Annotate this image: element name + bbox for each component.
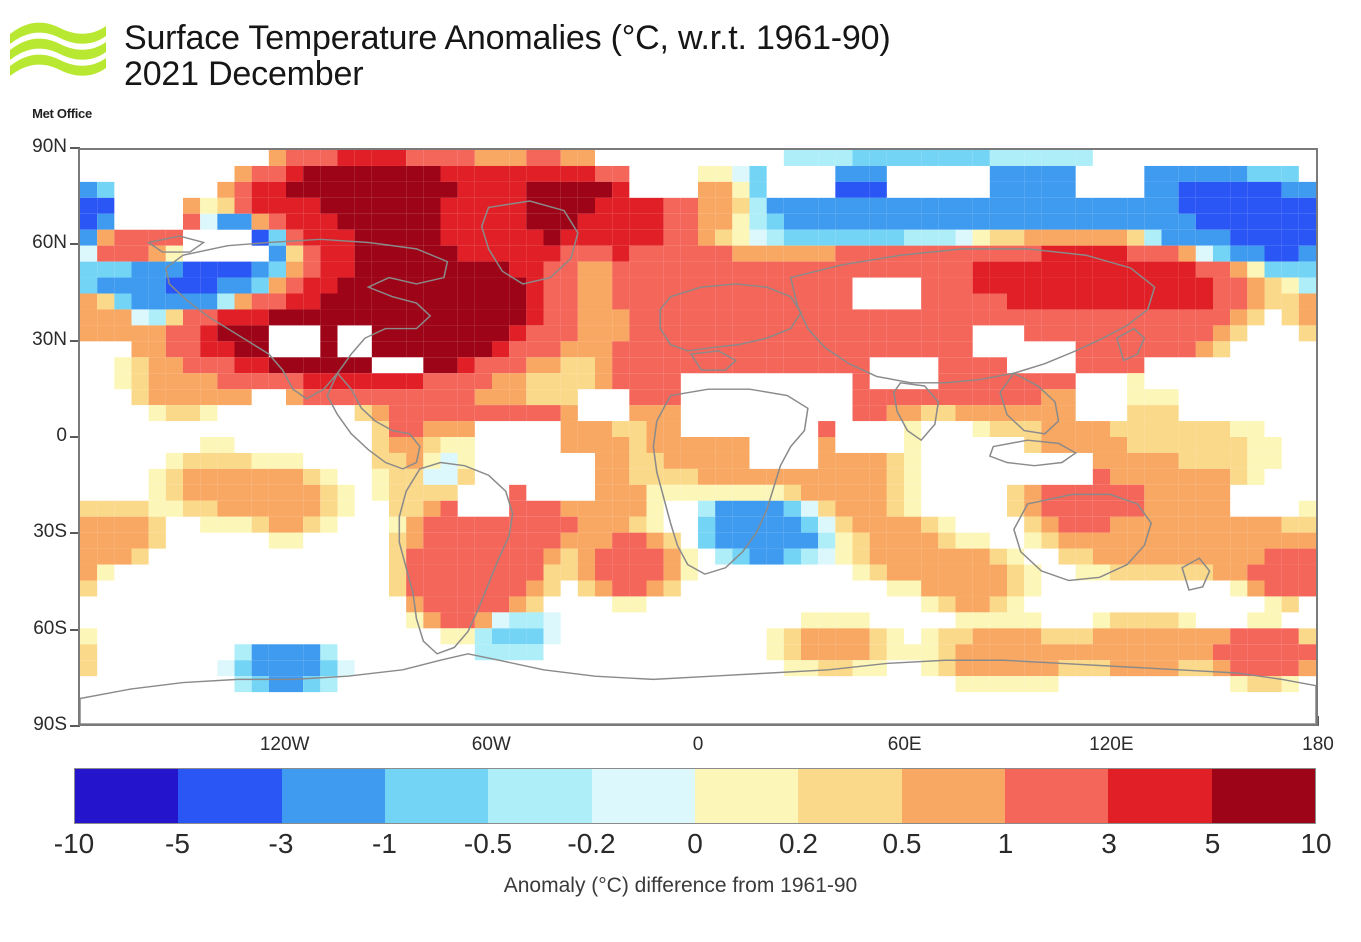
anomaly-cell (681, 262, 698, 278)
anomaly-cell (664, 262, 681, 278)
anomaly-cell (1162, 660, 1179, 676)
anomaly-cell (303, 182, 320, 198)
anomaly-cell (1007, 644, 1024, 660)
anomaly-cell (217, 501, 234, 517)
anomaly-cell (681, 469, 698, 485)
anomaly-cell (801, 278, 818, 294)
anomaly-cell (973, 294, 990, 310)
anomaly-cell (801, 309, 818, 325)
anomaly-cell (1041, 644, 1058, 660)
anomaly-cell (132, 357, 149, 373)
anomaly-cell (1213, 230, 1230, 246)
anomaly-cell (853, 182, 870, 198)
colorbar-tick: -3 (221, 828, 341, 860)
anomaly-cell (921, 549, 938, 565)
anomaly-cell (183, 469, 200, 485)
anomaly-cell (217, 341, 234, 357)
anomaly-cell (818, 628, 835, 644)
anomaly-cell (578, 246, 595, 262)
anomaly-cell (647, 230, 664, 246)
anomaly-cell (1007, 405, 1024, 421)
anomaly-cell (372, 485, 389, 501)
anomaly-cell (80, 660, 97, 676)
anomaly-cell (149, 533, 166, 549)
anomaly-cell (1247, 660, 1264, 676)
anomaly-cell (629, 389, 646, 405)
anomaly-cell (1041, 309, 1058, 325)
colorbar-band (695, 769, 798, 823)
anomaly-cell (1196, 309, 1213, 325)
anomaly-cell (750, 309, 767, 325)
anomaly-cell (750, 246, 767, 262)
anomaly-cell (1213, 421, 1230, 437)
anomaly-cell (458, 357, 475, 373)
anomaly-cell (715, 341, 732, 357)
anomaly-cell (1282, 262, 1299, 278)
anomaly-cell (612, 501, 629, 517)
anomaly-cell (149, 501, 166, 517)
anomaly-cell (166, 389, 183, 405)
anomaly-cell (252, 214, 269, 230)
anomaly-cell (338, 309, 355, 325)
anomaly-cell (1179, 533, 1196, 549)
anomaly-cell (904, 469, 921, 485)
anomaly-cell (750, 214, 767, 230)
anomaly-cell (578, 278, 595, 294)
anomaly-cell (990, 421, 1007, 437)
anomaly-cell (269, 660, 286, 676)
anomaly-cell (406, 612, 423, 628)
anomaly-cell (492, 373, 509, 389)
anomaly-cell (956, 612, 973, 628)
anomaly-cell (492, 150, 509, 166)
anomaly-cell (1247, 246, 1264, 262)
anomaly-cell (320, 325, 337, 341)
anomaly-cell (1024, 485, 1041, 501)
anomaly-cell (801, 294, 818, 310)
anomaly-cell (149, 278, 166, 294)
anomaly-cell (1247, 533, 1264, 549)
anomaly-cell (715, 262, 732, 278)
anomaly-cell (1110, 278, 1127, 294)
anomaly-cell (441, 549, 458, 565)
anomaly-cell (1110, 549, 1127, 565)
colorbar-band (488, 769, 591, 823)
anomaly-cell (458, 612, 475, 628)
anomaly-cell (698, 214, 715, 230)
anomaly-cell (1230, 182, 1247, 198)
anomaly-cell (200, 325, 217, 341)
anomaly-cell (784, 644, 801, 660)
anomaly-cell (1093, 517, 1110, 533)
anomaly-cell (818, 230, 835, 246)
anomaly-cell (595, 325, 612, 341)
anomaly-cell (423, 373, 440, 389)
anomaly-cell (818, 278, 835, 294)
anomaly-cell (629, 341, 646, 357)
anomaly-cell (647, 294, 664, 310)
anomaly-cell (1265, 230, 1282, 246)
anomaly-cell (870, 214, 887, 230)
anomaly-cell (458, 230, 475, 246)
anomaly-cell (664, 278, 681, 294)
anomaly-cell (526, 533, 543, 549)
anomaly-cell (1247, 628, 1264, 644)
anomaly-cell (475, 628, 492, 644)
anomaly-cell (303, 246, 320, 262)
anomaly-cell (1299, 501, 1316, 517)
anomaly-cell (1076, 628, 1093, 644)
anomaly-cell (441, 182, 458, 198)
anomaly-cell (458, 581, 475, 597)
anomaly-cell (320, 278, 337, 294)
anomaly-cell (269, 469, 286, 485)
anomaly-cell (938, 357, 955, 373)
anomaly-cell (1247, 469, 1264, 485)
anomaly-cell (338, 660, 355, 676)
anomaly-cell (784, 660, 801, 676)
anomaly-cell (784, 246, 801, 262)
anomaly-cell (492, 357, 509, 373)
anomaly-cell (578, 214, 595, 230)
anomaly-cell (1299, 517, 1316, 533)
anomaly-cell (1076, 437, 1093, 453)
anomaly-cell (1127, 373, 1144, 389)
anomaly-cell (715, 549, 732, 565)
anomaly-cell (149, 309, 166, 325)
anomaly-cell (1196, 198, 1213, 214)
anomaly-cell (132, 246, 149, 262)
anomaly-cell (921, 325, 938, 341)
anomaly-cell (1093, 437, 1110, 453)
anomaly-cell (853, 262, 870, 278)
anomaly-cell (441, 373, 458, 389)
anomaly-cell (1196, 230, 1213, 246)
anomaly-cell (1299, 309, 1316, 325)
anomaly-cell (1093, 660, 1110, 676)
anomaly-cell (647, 309, 664, 325)
anomaly-cell (441, 214, 458, 230)
anomaly-cell (715, 501, 732, 517)
anomaly-cell (1213, 166, 1230, 182)
anomaly-cell (441, 150, 458, 166)
anomaly-cell (578, 581, 595, 597)
anomaly-cell (441, 501, 458, 517)
anomaly-cell (1024, 437, 1041, 453)
anomaly-cell (973, 214, 990, 230)
anomaly-cell (492, 581, 509, 597)
anomaly-cell (629, 581, 646, 597)
anomaly-cell (320, 166, 337, 182)
anomaly-cell (1247, 437, 1264, 453)
anomaly-cell (853, 341, 870, 357)
anomaly-cell (1059, 389, 1076, 405)
anomaly-cell (1041, 166, 1058, 182)
anomaly-cell (526, 182, 543, 198)
anomaly-cell (1162, 262, 1179, 278)
anomaly-cell (526, 517, 543, 533)
anomaly-cell (715, 214, 732, 230)
anomaly-cell (1265, 644, 1282, 660)
anomaly-cell (423, 421, 440, 437)
anomaly-cell (835, 182, 852, 198)
anomaly-cell (1282, 565, 1299, 581)
anomaly-cell (1076, 198, 1093, 214)
anomaly-cell (767, 628, 784, 644)
anomaly-cell (990, 644, 1007, 660)
anomaly-cell (320, 501, 337, 517)
anomaly-cell (269, 182, 286, 198)
anomaly-cell (578, 182, 595, 198)
anomaly-cell (423, 405, 440, 421)
anomaly-cell (904, 262, 921, 278)
anomaly-cell (1024, 581, 1041, 597)
anomaly-cell (750, 549, 767, 565)
anomaly-cell (97, 246, 114, 262)
anomaly-cell (904, 549, 921, 565)
anomaly-cell (235, 389, 252, 405)
anomaly-cell (1162, 517, 1179, 533)
anomaly-cell (750, 262, 767, 278)
anomaly-cell (904, 198, 921, 214)
anomaly-cell (183, 309, 200, 325)
anomaly-cell (217, 214, 234, 230)
anomaly-cell (1196, 644, 1213, 660)
anomaly-cell (492, 294, 509, 310)
anomaly-cell (149, 341, 166, 357)
anomaly-cell (338, 246, 355, 262)
anomaly-cell (835, 341, 852, 357)
anomaly-cell (252, 309, 269, 325)
anomaly-cell (647, 565, 664, 581)
anomaly-cell (1127, 485, 1144, 501)
anomaly-cell (217, 469, 234, 485)
anomaly-cell (114, 549, 131, 565)
anomaly-cell (544, 166, 561, 182)
anomaly-cell (1247, 421, 1264, 437)
anomaly-cell (1127, 517, 1144, 533)
anomaly-cell (303, 262, 320, 278)
anomaly-cell (389, 581, 406, 597)
anomaly-cell (1230, 166, 1247, 182)
anomaly-cell (1282, 278, 1299, 294)
anomaly-cell (372, 166, 389, 182)
anomaly-cell (372, 309, 389, 325)
map-plot-area (78, 148, 1318, 726)
anomaly-cell (801, 246, 818, 262)
anomaly-cell (629, 517, 646, 533)
anomaly-cell (1007, 214, 1024, 230)
anomaly-cell (870, 230, 887, 246)
anomaly-cell (355, 182, 372, 198)
anomaly-cell (1179, 262, 1196, 278)
anomaly-cell (612, 246, 629, 262)
anomaly-cell (200, 214, 217, 230)
anomaly-cell (1007, 389, 1024, 405)
anomaly-cell (578, 309, 595, 325)
anomaly-cell (1162, 644, 1179, 660)
anomaly-cell (973, 533, 990, 549)
anomaly-cell (956, 278, 973, 294)
anomaly-cell (595, 565, 612, 581)
anomaly-cell (389, 389, 406, 405)
anomaly-cell (1299, 549, 1316, 565)
anomaly-cell (853, 214, 870, 230)
anomaly-cell (1196, 421, 1213, 437)
anomaly-cell (406, 262, 423, 278)
anomaly-cell (647, 246, 664, 262)
anomaly-cell (956, 405, 973, 421)
anomaly-cell (578, 373, 595, 389)
anomaly-cell (629, 565, 646, 581)
anomaly-cell (853, 405, 870, 421)
anomaly-cell (475, 373, 492, 389)
anomaly-cell (664, 214, 681, 230)
anomaly-cell (904, 501, 921, 517)
anomaly-cell (1110, 628, 1127, 644)
anomaly-cell (1179, 294, 1196, 310)
anomaly-cell (956, 581, 973, 597)
anomaly-cell (595, 421, 612, 437)
anomaly-cell (217, 373, 234, 389)
anomaly-cell (835, 309, 852, 325)
anomaly-cell (664, 565, 681, 581)
anomaly-cell (715, 294, 732, 310)
anomaly-cell (1162, 453, 1179, 469)
anomaly-cell (509, 628, 526, 644)
anomaly-cell (526, 325, 543, 341)
anomaly-cell (492, 596, 509, 612)
anomaly-cell (853, 485, 870, 501)
anomaly-cell (647, 581, 664, 597)
anomaly-cell (1162, 214, 1179, 230)
anomaly-cell (303, 373, 320, 389)
anomaly-cell (904, 437, 921, 453)
anomaly-cell (904, 453, 921, 469)
anomaly-cell (1230, 421, 1247, 437)
anomaly-cell (1024, 421, 1041, 437)
anomaly-cell (1230, 533, 1247, 549)
anomaly-cell (938, 644, 955, 660)
anomaly-cell (647, 517, 664, 533)
anomaly-cell (1059, 373, 1076, 389)
anomaly-cell (938, 294, 955, 310)
anomaly-cell (1093, 469, 1110, 485)
anomaly-cell (1144, 612, 1161, 628)
anomaly-cell (97, 309, 114, 325)
anomaly-cell (1041, 517, 1058, 533)
anomaly-cell (1196, 453, 1213, 469)
anomaly-cell (338, 214, 355, 230)
anomaly-cell (1144, 405, 1161, 421)
anomaly-cell (1230, 453, 1247, 469)
anomaly-cell (647, 501, 664, 517)
anomaly-cell (1110, 230, 1127, 246)
anomaly-cell (217, 262, 234, 278)
anomaly-cell (544, 517, 561, 533)
anomaly-cell (1041, 230, 1058, 246)
anomaly-cell (1179, 214, 1196, 230)
anomaly-cell (887, 325, 904, 341)
anomaly-cell (1144, 182, 1161, 198)
anomaly-cell (1024, 612, 1041, 628)
anomaly-cell (114, 357, 131, 373)
anomaly-cell (475, 612, 492, 628)
anomaly-cell (801, 262, 818, 278)
anomaly-cell (647, 198, 664, 214)
anomaly-cell (561, 437, 578, 453)
anomaly-cell (973, 612, 990, 628)
anomaly-cell (114, 294, 131, 310)
anomaly-cell (1059, 485, 1076, 501)
anomaly-cell (286, 389, 303, 405)
anomaly-cell (492, 166, 509, 182)
anomaly-cell (835, 230, 852, 246)
anomaly-cell (990, 357, 1007, 373)
anomaly-cell (750, 341, 767, 357)
anomaly-cell (149, 517, 166, 533)
anomaly-cell (338, 485, 355, 501)
anomaly-cell (561, 389, 578, 405)
anomaly-cell (1179, 644, 1196, 660)
anomaly-cell (1282, 517, 1299, 533)
anomaly-cell (217, 453, 234, 469)
anomaly-cell (441, 294, 458, 310)
anomaly-cell (818, 246, 835, 262)
anomaly-cell (1162, 437, 1179, 453)
anomaly-cell (492, 278, 509, 294)
anomaly-cell (132, 501, 149, 517)
anomaly-cell (441, 565, 458, 581)
anomaly-cell (1093, 421, 1110, 437)
anomaly-cell (1144, 517, 1161, 533)
anomaly-cell (406, 230, 423, 246)
anomaly-cell (1247, 214, 1264, 230)
anomaly-cell (475, 262, 492, 278)
anomaly-cell (1213, 453, 1230, 469)
anomaly-cell (80, 533, 97, 549)
anomaly-cell (544, 565, 561, 581)
anomaly-cell (80, 230, 97, 246)
anomaly-cell (1196, 660, 1213, 676)
anomaly-cell (595, 198, 612, 214)
anomaly-cell (904, 341, 921, 357)
anomaly-cell (1007, 166, 1024, 182)
anomaly-cell (1265, 628, 1282, 644)
anomaly-cell (767, 549, 784, 565)
anomaly-cell (1196, 501, 1213, 517)
anomaly-cell (1230, 581, 1247, 597)
anomaly-cell (1265, 596, 1282, 612)
anomaly-cell (990, 549, 1007, 565)
anomaly-cell (1076, 325, 1093, 341)
anomaly-cell (750, 533, 767, 549)
anomaly-cell (612, 214, 629, 230)
anomaly-cell (1299, 230, 1316, 246)
anomaly-cell (303, 294, 320, 310)
anomaly-cell (1110, 246, 1127, 262)
anomaly-cell (561, 150, 578, 166)
anomaly-cell (526, 612, 543, 628)
anomaly-cell (389, 421, 406, 437)
anomaly-cell (715, 309, 732, 325)
anomaly-cell (544, 230, 561, 246)
colorbar-tick-labels: -10-5-3-1-0.5-0.200.20.513510 (74, 828, 1316, 868)
anomaly-cell (1179, 421, 1196, 437)
anomaly-cell (200, 278, 217, 294)
anomaly-cell (853, 389, 870, 405)
anomaly-cell (509, 309, 526, 325)
